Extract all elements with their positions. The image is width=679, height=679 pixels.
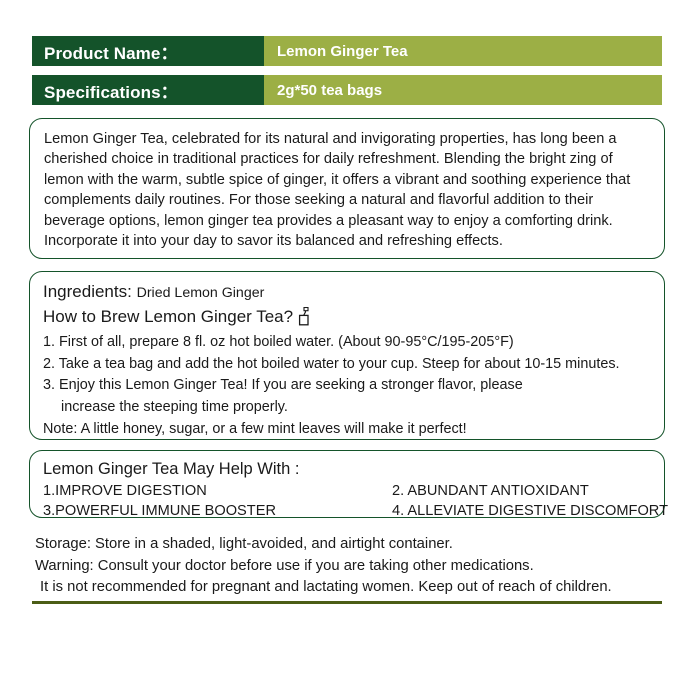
product-header-table: Product Name： Lemon Ginger Tea Specifica… bbox=[32, 36, 662, 114]
list-item: 2. Take a tea bag and add the hot boiled… bbox=[43, 354, 652, 376]
bottom-divider bbox=[32, 601, 662, 604]
product-name-value: Lemon Ginger Tea bbox=[264, 36, 662, 66]
warning-line: Warning: Consult your doctor before use … bbox=[35, 556, 665, 578]
specifications-label: Specifications： bbox=[32, 75, 264, 105]
list-item: 2. ABUNDANT ANTIOXIDANT bbox=[392, 481, 668, 501]
description-box: Lemon Ginger Tea, celebrated for its nat… bbox=[29, 118, 665, 259]
how-to-brew-heading-row: How to Brew Lemon Ginger Tea? bbox=[43, 305, 652, 329]
brewing-note: Note: A little honey, sugar, or a few mi… bbox=[43, 419, 652, 441]
list-item: 3. Enjoy this Lemon Ginger Tea! If you a… bbox=[43, 375, 652, 397]
ingredients-value: Dried Lemon Ginger bbox=[137, 285, 265, 301]
list-item: 1.IMPROVE DIGESTION bbox=[43, 481, 392, 501]
list-item: 4. ALLEVIATE DIGESTIVE DISCOMFORT bbox=[392, 501, 668, 521]
list-item-continuation: increase the steeping time properly. bbox=[43, 397, 652, 419]
footer-notes: Storage: Store in a shaded, light-avoide… bbox=[35, 534, 665, 599]
table-row-product-name: Product Name： Lemon Ginger Tea bbox=[32, 36, 662, 66]
brewing-instructions-box: Ingredients: Dried Lemon Ginger How to B… bbox=[29, 271, 665, 440]
how-to-brew-heading: How to Brew Lemon Ginger Tea? bbox=[43, 305, 293, 329]
benefits-grid: 1.IMPROVE DIGESTION 2. ABUNDANT ANTIOXID… bbox=[43, 481, 652, 521]
teabag-icon bbox=[298, 307, 310, 326]
specifications-value: 2g*50 tea bags bbox=[264, 75, 662, 105]
product-label-sheet: Product Name： Lemon Ginger Tea Specifica… bbox=[0, 0, 679, 679]
storage-line: Storage: Store in a shaded, light-avoide… bbox=[35, 534, 665, 556]
description-text: Lemon Ginger Tea, celebrated for its nat… bbox=[44, 129, 650, 251]
ingredients-label: Ingredients: bbox=[43, 282, 132, 301]
list-item: 3.POWERFUL IMMUNE BOOSTER bbox=[43, 501, 392, 521]
benefits-heading: Lemon Ginger Tea May Help With : bbox=[43, 458, 652, 480]
table-row-specifications: Specifications： 2g*50 tea bags bbox=[32, 75, 662, 105]
brewing-steps-list: 1. First of all, prepare 8 fl. oz hot bo… bbox=[43, 332, 652, 418]
product-name-label: Product Name： bbox=[32, 36, 264, 66]
list-item: 1. First of all, prepare 8 fl. oz hot bo… bbox=[43, 332, 652, 354]
warning-line-continuation: It is not recommended for pregnant and l… bbox=[35, 577, 665, 599]
ingredients-line: Ingredients: Dried Lemon Ginger bbox=[43, 280, 652, 305]
benefits-box: Lemon Ginger Tea May Help With : 1.IMPRO… bbox=[29, 450, 665, 518]
